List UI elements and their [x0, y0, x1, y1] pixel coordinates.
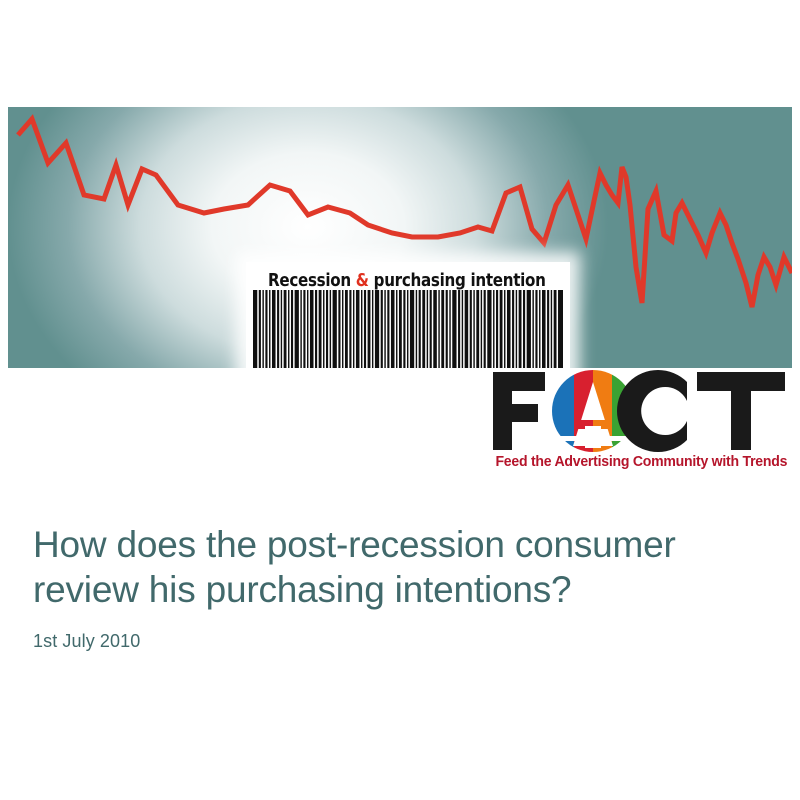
barcode-bar	[391, 290, 395, 368]
barcode-bar	[277, 290, 279, 368]
barcode-bar	[345, 290, 348, 368]
barcode-bar	[504, 290, 505, 368]
barcode-bar	[493, 290, 494, 368]
barcode-bar	[375, 290, 379, 368]
barcode-bar	[262, 290, 263, 368]
barcode-bar	[399, 290, 402, 368]
barcode-bar	[500, 290, 503, 368]
barcode-bar	[310, 290, 314, 368]
barcode-bar	[253, 290, 257, 368]
barcode-bar	[532, 290, 533, 368]
barcode-bar	[512, 290, 514, 368]
barcode-bar	[462, 290, 463, 368]
barcode-bar	[465, 290, 469, 368]
barcode-bar	[410, 290, 414, 368]
barcode-bar	[558, 290, 563, 368]
barcode-bar	[272, 290, 276, 368]
barcode-bar	[542, 290, 546, 368]
fact-letter-t	[697, 372, 785, 450]
barcode-bar	[372, 290, 373, 368]
barcode-bars	[246, 290, 570, 368]
barcode-caption-suffix: purchasing intention	[369, 271, 546, 291]
title-block: How does the post-recession consumer rev…	[33, 522, 753, 652]
barcode-bar	[473, 290, 474, 368]
barcode-bar	[288, 290, 289, 368]
barcode-bar	[441, 290, 444, 368]
barcode-bar	[384, 290, 385, 368]
fact-letter-f	[493, 372, 545, 450]
barcode-bar	[452, 290, 456, 368]
barcode-bar	[476, 290, 479, 368]
barcode-bar	[507, 290, 511, 368]
barcode-bar	[523, 290, 525, 368]
barcode-bar	[407, 290, 408, 368]
barcode-bar	[295, 290, 299, 368]
barcode-bar	[381, 290, 383, 368]
barcode-bar	[554, 290, 557, 368]
barcode-bar	[361, 290, 362, 368]
barcode-bar	[438, 290, 439, 368]
barcode-bar	[265, 290, 267, 368]
barcode-bar	[446, 290, 448, 368]
barcode-bar	[284, 290, 287, 368]
barcode-bar	[547, 290, 549, 368]
barcode-bar	[419, 290, 421, 368]
barcode-bar	[349, 290, 351, 368]
barcode-bar	[470, 290, 472, 368]
barcode-caption-ampersand: &	[356, 271, 369, 291]
slide-date: 1st July 2010	[33, 630, 753, 652]
barcode-bar	[330, 290, 331, 368]
barcode-bar	[319, 290, 322, 368]
barcode-bar	[259, 290, 261, 368]
barcode-bar	[291, 290, 293, 368]
barcode-bar	[403, 290, 405, 368]
barcode-bar	[300, 290, 301, 368]
barcode-bar	[481, 290, 482, 368]
barcode-bar	[449, 290, 450, 368]
barcode-bar	[527, 290, 531, 368]
barcode-bar	[496, 290, 498, 368]
title-slide: Recession & purchasing intention	[0, 0, 800, 800]
barcode-bar	[396, 290, 397, 368]
barcode-bar	[539, 290, 540, 368]
barcode-bar	[458, 290, 460, 368]
barcode-bar	[487, 290, 491, 368]
barcode-bar	[307, 290, 308, 368]
barcode-bar	[338, 290, 340, 368]
barcode-bar	[427, 290, 428, 368]
barcode-bar	[342, 290, 343, 368]
barcode-bar	[356, 290, 360, 368]
fact-letter-c	[617, 370, 687, 452]
barcode-bar	[516, 290, 517, 368]
barcode-bar	[326, 290, 328, 368]
barcode-bar	[281, 290, 282, 368]
barcode-bar	[364, 290, 366, 368]
fact-logo: Feed the Advertising Community with Tren…	[489, 368, 789, 478]
barcode-bar	[519, 290, 522, 368]
barcode-bar	[323, 290, 324, 368]
fact-tagline: Feed the Advertising Community with Tren…	[495, 454, 782, 470]
barcode-bar	[430, 290, 432, 368]
barcode-bar	[535, 290, 537, 368]
barcode-graphic: Recession & purchasing intention	[246, 262, 570, 368]
barcode-bar	[269, 290, 270, 368]
barcode-bar	[433, 290, 437, 368]
barcode-bar	[416, 290, 417, 368]
barcode-bar	[353, 290, 354, 368]
barcode-caption-prefix: Recession	[268, 271, 356, 291]
barcode-bar	[422, 290, 425, 368]
barcode-bar	[368, 290, 371, 368]
hero-banner: Recession & purchasing intention	[8, 107, 792, 368]
barcode-bar	[387, 290, 389, 368]
barcode-bar	[484, 290, 486, 368]
fact-wordmark	[489, 368, 789, 454]
barcode-bar	[315, 290, 317, 368]
barcode-bar	[551, 290, 552, 368]
slide-title: How does the post-recession consumer rev…	[33, 522, 753, 612]
barcode-bar	[303, 290, 305, 368]
barcode-bar	[333, 290, 337, 368]
